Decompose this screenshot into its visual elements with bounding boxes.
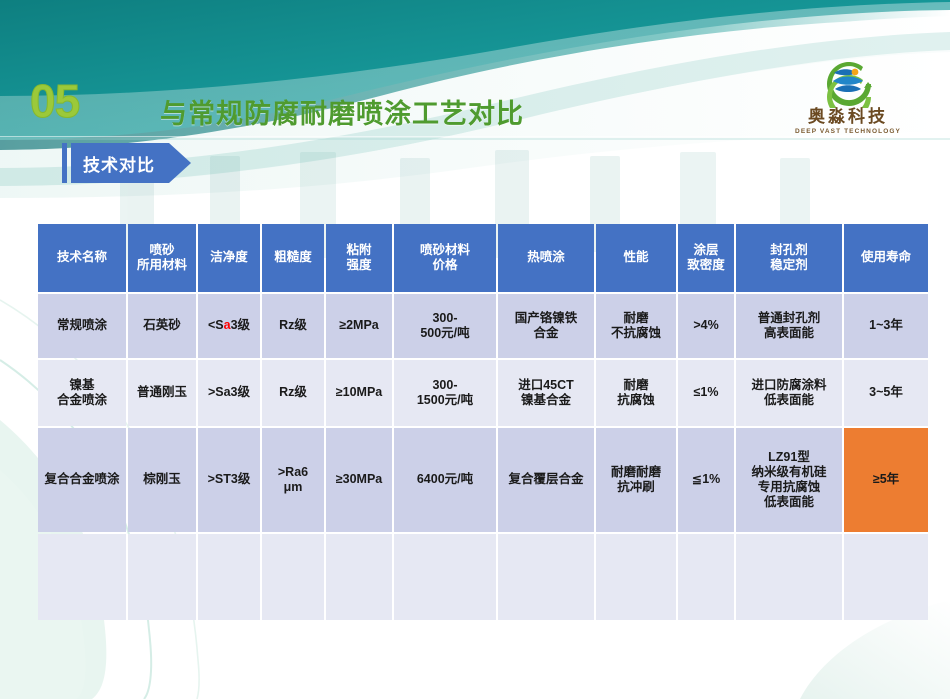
col-header-performance: 性能 <box>596 224 676 292</box>
cell-line2: 合金 <box>499 326 593 341</box>
cell-empty <box>38 534 126 620</box>
cell-line1: 耐磨 <box>597 311 675 326</box>
cell-media-price: 300- 500元/吨 <box>394 294 496 358</box>
cell-empty <box>262 534 324 620</box>
cell-lifetime-highlight: ≥5年 <box>844 428 928 532</box>
company-logo: 奥淼科技 DEEP VAST TECHNOLOGY <box>788 62 908 135</box>
cell-empty <box>678 534 734 620</box>
cell-media-price: 300- 1500元/吨 <box>394 360 496 426</box>
col-header-sealant: 封孔剂 稳定剂 <box>736 224 842 292</box>
cell-line1: 300- <box>395 311 495 326</box>
cell-line2: 抗冲刷 <box>597 480 675 495</box>
banner-label: 技术对比 <box>71 143 169 183</box>
cell-thermal-spray: 进口45CT 镍基合金 <box>498 360 594 426</box>
cell-line1: 进口防腐涂料 <box>737 378 841 393</box>
col-header-thermal-spray: 热喷涂 <box>498 224 594 292</box>
cell-density: ≤1% <box>678 360 734 426</box>
cell-line1: 镍基 <box>39 378 125 393</box>
cell-line2: 抗腐蚀 <box>597 393 675 408</box>
cell-thermal-spray: 国产铬镍铁 合金 <box>498 294 594 358</box>
cell-empty <box>326 534 392 620</box>
cell-line1: 国产铬镍铁 <box>499 311 593 326</box>
col-header-line1: 性能 <box>597 250 675 265</box>
logo-name-cn: 奥淼科技 <box>788 109 908 127</box>
cell-empty <box>128 534 196 620</box>
cell-line1: 进口45CT <box>499 378 593 393</box>
cell-line3: 专用抗腐蚀 <box>737 480 841 495</box>
col-header-line1: 技术名称 <box>39 250 125 265</box>
col-header-line1: 涂层 <box>679 243 733 258</box>
cell-line2: 500元/吨 <box>395 326 495 341</box>
cell-roughness: >Ra6 μm <box>262 428 324 532</box>
cell-blast-media: 棕刚玉 <box>128 428 196 532</box>
comparison-table-container: 技术名称 喷砂 所用材料 洁净度 粗糙度 <box>36 222 914 622</box>
col-header-lifetime: 使用寿命 <box>844 224 928 292</box>
cell-line2: μm <box>263 480 323 495</box>
table-row: 镍基 合金喷涂 普通刚玉 >Sa3级 Rz级 ≥10MPa 300- 1500元… <box>38 360 928 426</box>
cell-line2: 1500元/吨 <box>395 393 495 408</box>
cell-cleanliness: <Sa3级 <box>198 294 260 358</box>
logo-name-en: DEEP VAST TECHNOLOGY <box>788 128 908 135</box>
cell-empty <box>498 534 594 620</box>
cell-adhesion: ≥2MPa <box>326 294 392 358</box>
cell-blast-media: 石英砂 <box>128 294 196 358</box>
col-header-line2: 强度 <box>327 258 391 273</box>
cell-line1: 普通封孔剂 <box>737 311 841 326</box>
cell-lifetime: 1~3年 <box>844 294 928 358</box>
col-header-line1: 封孔剂 <box>737 243 841 258</box>
cell-sealant: 普通封孔剂 高表面能 <box>736 294 842 358</box>
cell-empty <box>394 534 496 620</box>
cell-lifetime: 3~5年 <box>844 360 928 426</box>
cell-performance: 耐磨耐磨 抗冲刷 <box>596 428 676 532</box>
col-header-line1: 喷砂 <box>129 243 195 258</box>
cell-sealant: 进口防腐涂料 低表面能 <box>736 360 842 426</box>
cleanliness-suffix: 3级 <box>231 318 250 332</box>
banner-arrow-icon <box>169 143 191 183</box>
comparison-table: 技术名称 喷砂 所用材料 洁净度 粗糙度 <box>36 222 930 622</box>
table-row-empty <box>38 534 928 620</box>
cell-line2: 高表面能 <box>737 326 841 341</box>
cell-line1: >Ra6 <box>263 465 323 480</box>
cell-roughness: Rz级 <box>262 294 324 358</box>
col-header-density: 涂层 致密度 <box>678 224 734 292</box>
page-title: 与常规防腐耐磨喷涂工艺对比 <box>160 92 524 131</box>
slide-canvas: 05 与常规防腐耐磨喷涂工艺对比 奥淼科技 DEEP VAST TECHNOLO… <box>0 0 950 699</box>
cell-adhesion: ≥30MPa <box>326 428 392 532</box>
cell-empty <box>198 534 260 620</box>
col-header-line1: 粗糙度 <box>263 250 323 265</box>
col-header-adhesion: 粘附 强度 <box>326 224 392 292</box>
table-row: 常规喷涂 石英砂 <Sa3级 Rz级 ≥2MPa 300- 500元/吨 国产铬… <box>38 294 928 358</box>
cell-density: >4% <box>678 294 734 358</box>
cell-blast-media: 普通刚玉 <box>128 360 196 426</box>
col-header-line1: 喷砂材料 <box>395 243 495 258</box>
cell-cleanliness: >Sa3级 <box>198 360 260 426</box>
cell-cleanliness: >ST3级 <box>198 428 260 532</box>
col-header-blast-media: 喷砂 所用材料 <box>128 224 196 292</box>
col-header-line2: 价格 <box>395 258 495 273</box>
cell-media-price: 6400元/吨 <box>394 428 496 532</box>
cell-line2: 纳米级有机硅 <box>737 465 841 480</box>
table-body: 常规喷涂 石英砂 <Sa3级 Rz级 ≥2MPa 300- 500元/吨 国产铬… <box>38 294 928 620</box>
cleanliness-prefix: <S <box>208 318 224 332</box>
cell-line1: 300- <box>395 378 495 393</box>
col-header-tech-name: 技术名称 <box>38 224 126 292</box>
cell-line4: 低表面能 <box>737 495 841 510</box>
section-banner: 技术对比 <box>62 143 191 183</box>
cell-tech-name: 镍基 合金喷涂 <box>38 360 126 426</box>
cell-sealant: LZ91型 纳米级有机硅 专用抗腐蚀 低表面能 <box>736 428 842 532</box>
cell-line1: 耐磨耐磨 <box>597 465 675 480</box>
cell-empty <box>844 534 928 620</box>
slide-number: 05 <box>30 78 79 124</box>
col-header-line2: 致密度 <box>679 258 733 273</box>
cleanliness-highlight: a <box>224 318 231 332</box>
col-header-cleanliness: 洁净度 <box>198 224 260 292</box>
cell-line2: 低表面能 <box>737 393 841 408</box>
col-header-line2: 所用材料 <box>129 258 195 273</box>
cell-density: ≦1% <box>678 428 734 532</box>
cell-line2: 合金喷涂 <box>39 393 125 408</box>
cell-line2: 不抗腐蚀 <box>597 326 675 341</box>
cell-tech-name: 常规喷涂 <box>38 294 126 358</box>
col-header-roughness: 粗糙度 <box>262 224 324 292</box>
col-header-line1: 洁净度 <box>199 250 259 265</box>
cell-adhesion: ≥10MPa <box>326 360 392 426</box>
col-header-line1: 使用寿命 <box>845 250 927 265</box>
cell-empty <box>736 534 842 620</box>
cell-tech-name: 复合合金喷涂 <box>38 428 126 532</box>
circular-swoosh-wave-icon <box>821 62 875 108</box>
cell-performance: 耐磨 抗腐蚀 <box>596 360 676 426</box>
col-header-line1: 热喷涂 <box>499 250 593 265</box>
cell-line2: 镍基合金 <box>499 393 593 408</box>
table-row: 复合合金喷涂 棕刚玉 >ST3级 >Ra6 μm ≥30MPa 6400元/吨 … <box>38 428 928 532</box>
col-header-line2: 稳定剂 <box>737 258 841 273</box>
cell-line1: 耐磨 <box>597 378 675 393</box>
cell-thermal-spray: 复合覆层合金 <box>498 428 594 532</box>
cell-empty <box>596 534 676 620</box>
table-header-row: 技术名称 喷砂 所用材料 洁净度 粗糙度 <box>38 224 928 292</box>
cell-line1: LZ91型 <box>737 450 841 465</box>
col-header-media-price: 喷砂材料 价格 <box>394 224 496 292</box>
cell-performance: 耐磨 不抗腐蚀 <box>596 294 676 358</box>
cell-roughness: Rz级 <box>262 360 324 426</box>
col-header-line1: 粘附 <box>327 243 391 258</box>
